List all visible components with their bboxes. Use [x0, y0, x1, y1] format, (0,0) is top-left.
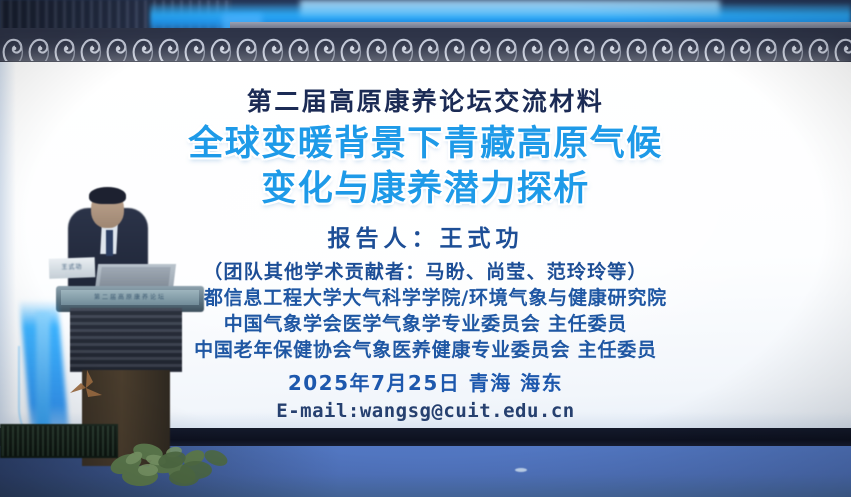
podium-body	[70, 308, 182, 372]
podium-name-card: 王式功	[49, 257, 96, 279]
pinwheel-logo-icon	[66, 368, 106, 408]
stage-floor-speck	[515, 468, 527, 472]
slide-kicker: 第二届高原康养论坛交流材料	[0, 82, 851, 118]
led-cove-highlight	[300, 0, 720, 16]
speaker-tie	[106, 230, 113, 256]
floor-speaker-monitor	[0, 424, 118, 458]
podium-banner-text: 第二届高原康养论坛	[61, 292, 199, 301]
slide-title-line-1: 全球变暖背景下青藏高原气候	[0, 125, 851, 163]
stage-plant-secondary-icon	[150, 430, 240, 488]
podium-name-card-text: 王式功	[49, 257, 96, 279]
podium-slats	[70, 308, 182, 372]
speaker-hair	[89, 187, 126, 204]
podium-banner: 第二届高原康养论坛	[61, 290, 199, 305]
conference-photo: 第二届高原康养论坛交流材料 全球变暖背景下青藏高原气候 变化与康养潜力探析 报告…	[0, 0, 851, 497]
monitor-grille	[2, 426, 116, 456]
